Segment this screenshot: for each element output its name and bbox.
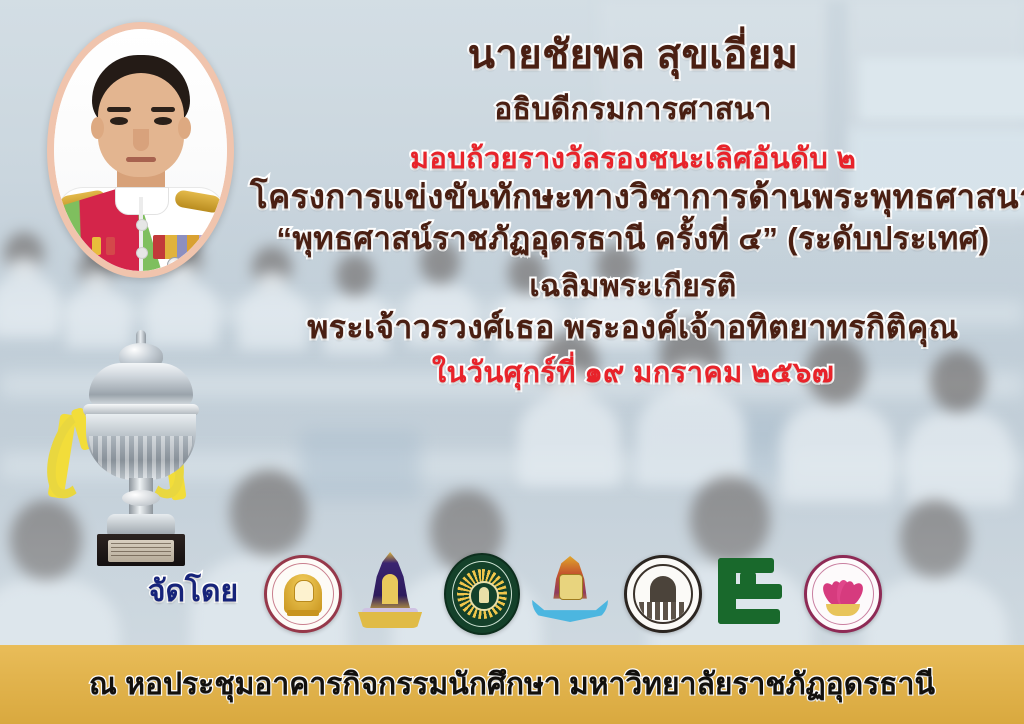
project-line-1: โครงการแข่งขันทักษะทางวิชาการด้านพระพุทธ… (250, 180, 1016, 215)
logo-department-of-religious-affairs (264, 550, 336, 632)
logo-green-monogram (714, 550, 786, 632)
project-line-2: “พุทธศาสน์ราชภัฏอุดรธานี ครั้งที่ ๔” (ระ… (250, 223, 1016, 256)
logo-pink-lotus-seal (804, 550, 876, 632)
organized-by-label: จัดโดย (148, 568, 238, 615)
venue-text: ณ หอประชุมอาคารกิจกรรมนักศึกษา มหาวิทยาล… (89, 661, 935, 708)
presenter-position: อธิบดีกรมการศาสนา (250, 94, 1016, 126)
award-line: มอบถ้วยรางวัลรองชนะเลิศอันดับ ๒ (250, 144, 1016, 174)
headline-text-block: นายชัยพล สุขเอี่ยม อธิบดีกรมการศาสนา มอบ… (250, 34, 1016, 395)
logo-udon-thani-rajabhat-university (444, 550, 516, 632)
honor-line: เฉลิมพระเกียรติ (250, 271, 1016, 303)
trophy-image (38, 330, 243, 566)
award-poster: นายชัยพล สุขเอี่ยม อธิบดีกรมการศาสนา มอบ… (0, 0, 1024, 724)
organizers-row: จัดโดย (0, 541, 1024, 641)
presenter-name: นายชัยพล สุขเอี่ยม (250, 34, 1016, 76)
portrait-photo (47, 22, 234, 278)
event-date: ในวันศุกร์ที่ ๑๙ มกราคม ๒๕๖๗ (250, 358, 1016, 388)
logo-black-and-white-seal (624, 550, 696, 632)
venue-banner: ณ หอประชุมอาคารกิจกรรมนักศึกษา มหาวิทยาล… (0, 645, 1024, 724)
logo-royal-purple-emblem (354, 550, 426, 632)
royal-title-line: พระเจ้าวรวงศ์เธอ พระองค์เจ้าอทิตยาทรกิติ… (250, 311, 1016, 345)
logo-blue-ribbon-royal-emblem (534, 550, 606, 632)
